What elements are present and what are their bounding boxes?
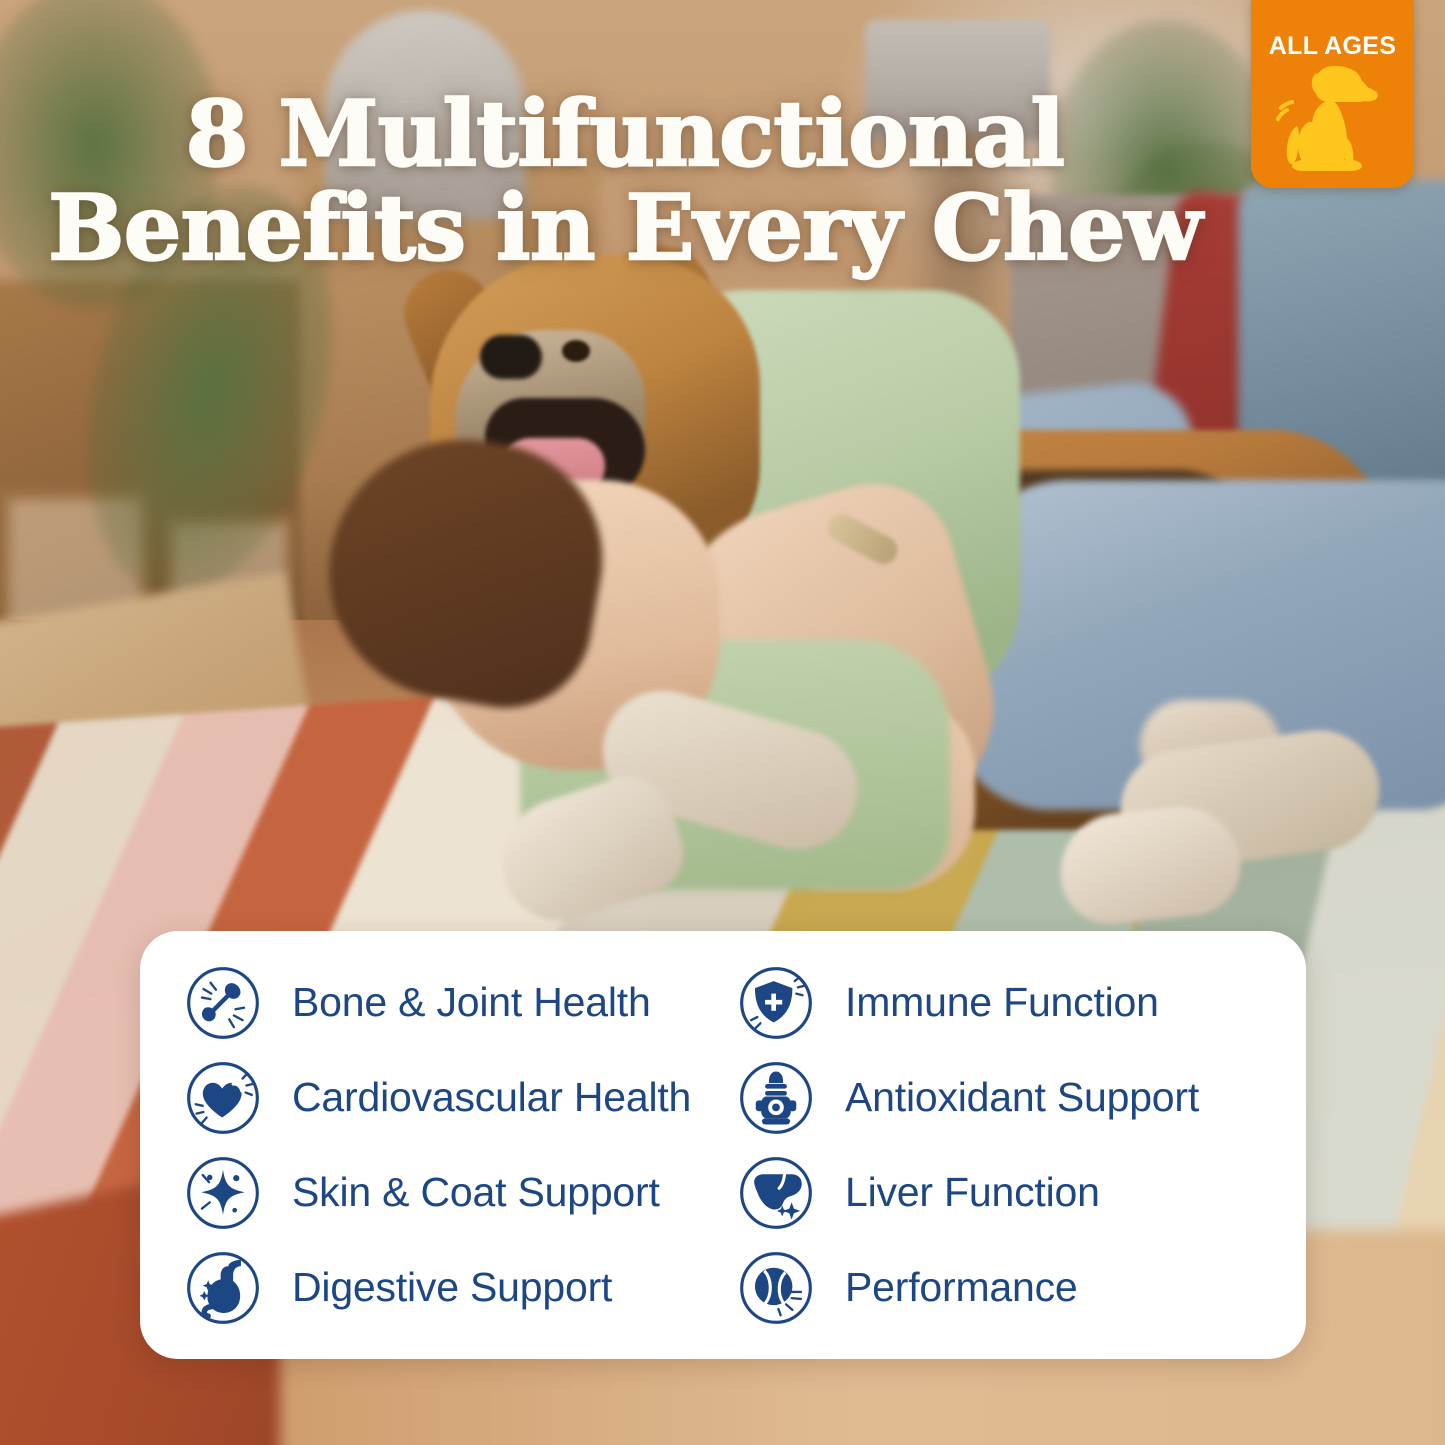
benefit-label: Liver Function	[845, 1169, 1100, 1216]
benefits-card: Bone & Joint Health Immune Function	[140, 931, 1306, 1359]
benefit-item: Bone & Joint Health	[184, 955, 719, 1050]
headline-line-2: Benefits in Every Chew	[0, 182, 1250, 276]
benefit-item: Digestive Support	[184, 1240, 719, 1335]
benefit-label: Skin & Coat Support	[292, 1169, 660, 1216]
sitting-dog-silhouette-icon	[1273, 60, 1395, 172]
benefit-label: Bone & Joint Health	[292, 979, 651, 1026]
benefit-item: Performance	[737, 1240, 1272, 1335]
page-title: 8 Multifunctional Benefits in Every Chew	[0, 88, 1250, 275]
fire-hydrant-icon	[737, 1059, 815, 1137]
benefit-label: Performance	[845, 1264, 1078, 1311]
benefit-label: Cardiovascular Health	[292, 1074, 691, 1121]
benefit-item: Immune Function	[737, 955, 1272, 1050]
sparkle-star-icon	[184, 1154, 262, 1232]
benefit-item: Cardiovascular Health	[184, 1050, 719, 1145]
tennis-ball-icon	[737, 1249, 815, 1327]
bone-joint-icon	[184, 964, 262, 1042]
stomach-icon	[184, 1249, 262, 1327]
product-infographic: 8 Multifunctional Benefits in Every Chew…	[0, 0, 1445, 1445]
dog-nose	[480, 335, 542, 379]
heart-icon	[184, 1059, 262, 1137]
all-ages-badge: ALL AGES	[1251, 0, 1414, 188]
shield-plus-icon	[737, 964, 815, 1042]
benefit-label: Digestive Support	[292, 1264, 612, 1311]
headline-line-1: 8 Multifunctional	[186, 81, 1065, 187]
benefit-item: Liver Function	[737, 1145, 1272, 1240]
all-ages-label: ALL AGES	[1251, 32, 1414, 61]
dog-eye	[562, 340, 590, 362]
benefit-item: Skin & Coat Support	[184, 1145, 719, 1240]
benefit-label: Immune Function	[845, 979, 1159, 1026]
benefit-label: Antioxidant Support	[845, 1074, 1199, 1121]
benefit-item: Antioxidant Support	[737, 1050, 1272, 1145]
liver-icon	[737, 1154, 815, 1232]
